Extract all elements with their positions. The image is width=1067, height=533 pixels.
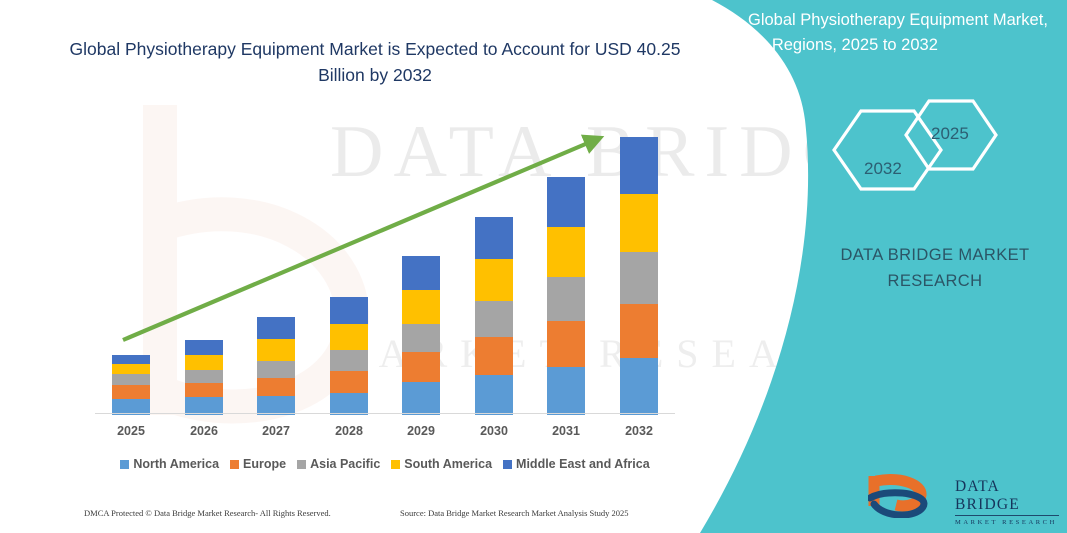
brand-line-1: DATA BRIDGE MARKET <box>790 242 1067 268</box>
bar-segment-2026-middle-east-and-africa <box>185 340 223 355</box>
bar-2025 <box>112 355 150 415</box>
legend-label: Asia Pacific <box>310 457 380 471</box>
bar-segment-2027-europe <box>257 378 295 396</box>
hexagon-2032-label: 2032 <box>864 159 902 179</box>
bar-segment-2029-south-america <box>402 290 440 324</box>
bar-segment-2030-europe <box>475 337 513 375</box>
legend-item-north-america[interactable]: North America <box>120 457 219 471</box>
bar-segment-2028-middle-east-and-africa <box>330 297 368 324</box>
bar-segment-2028-north-america <box>330 393 368 415</box>
legend-label: North America <box>133 457 219 471</box>
legend-swatch-icon <box>120 460 129 469</box>
bar-2026 <box>185 340 223 415</box>
bar-segment-2027-middle-east-and-africa <box>257 317 295 339</box>
chart-legend: North AmericaEuropeAsia PacificSouth Ame… <box>95 455 675 473</box>
bar-segment-2030-asia-pacific <box>475 301 513 337</box>
bar-segment-2029-asia-pacific <box>402 324 440 352</box>
chart-title: Global Physiotherapy Equipment Market is… <box>60 36 690 88</box>
bar-segment-2028-south-america <box>330 324 368 350</box>
right-panel-title: Global Physiotherapy Equipment Market, B… <box>748 8 1048 58</box>
x-axis-label-2025: 2025 <box>101 424 161 438</box>
x-axis-labels: 20252026202720282029203020312032 <box>95 424 675 444</box>
legend-swatch-icon <box>503 460 512 469</box>
bar-segment-2029-europe <box>402 352 440 382</box>
bar-segment-2028-europe <box>330 371 368 393</box>
x-axis-label-2028: 2028 <box>319 424 379 438</box>
logo-divider <box>955 515 1059 516</box>
legend-swatch-icon <box>230 460 239 469</box>
legend-label: Europe <box>243 457 286 471</box>
bar-segment-2029-middle-east-and-africa <box>402 256 440 290</box>
bar-segment-2027-south-america <box>257 339 295 361</box>
bar-segment-2027-asia-pacific <box>257 361 295 378</box>
bar-segment-2026-asia-pacific <box>185 370 223 383</box>
bar-segment-2025-asia-pacific <box>112 374 150 385</box>
legend-label: South America <box>404 457 492 471</box>
bar-segment-2030-middle-east-and-africa <box>475 217 513 259</box>
x-axis-label-2029: 2029 <box>391 424 451 438</box>
bar-2027 <box>257 317 295 415</box>
bar-segment-2029-north-america <box>402 382 440 415</box>
bar-segment-2032-middle-east-and-africa <box>620 137 658 194</box>
bar-segment-2025-middle-east-and-africa <box>112 355 150 364</box>
brand-name-block: DATA BRIDGE MARKET RESEARCH <box>790 242 1067 294</box>
bar-segment-2031-north-america <box>547 367 585 415</box>
bar-segment-2032-europe <box>620 304 658 358</box>
bar-2028 <box>330 297 368 415</box>
brand-line-2: RESEARCH <box>790 268 1067 294</box>
legend-label: Middle East and Africa <box>516 457 650 471</box>
bar-segment-2032-north-america <box>620 358 658 415</box>
bar-segment-2025-south-america <box>112 364 150 374</box>
x-axis-label-2027: 2027 <box>246 424 306 438</box>
x-axis-label-2030: 2030 <box>464 424 524 438</box>
footer-source: Source: Data Bridge Market Research Mark… <box>400 508 629 518</box>
bar-2029 <box>402 256 440 415</box>
bar-segment-2026-europe <box>185 383 223 397</box>
legend-item-south-america[interactable]: South America <box>391 457 492 471</box>
logo-tagline: MARKET RESEARCH <box>955 519 1065 526</box>
legend-item-asia-pacific[interactable]: Asia Pacific <box>297 457 380 471</box>
bar-segment-2030-north-america <box>475 375 513 415</box>
bar-segment-2032-asia-pacific <box>620 252 658 304</box>
data-bridge-logo-text: DATA BRIDGE MARKET RESEARCH <box>955 478 1065 526</box>
legend-swatch-icon <box>391 460 400 469</box>
bar-segment-2031-south-america <box>547 227 585 277</box>
infographic-canvas: DATA BRIDGE MARKET RESEARCH Global Physi… <box>0 0 1067 533</box>
bar-segment-2032-south-america <box>620 194 658 252</box>
bar-segment-2031-asia-pacific <box>547 277 585 321</box>
x-axis-line <box>95 413 675 414</box>
hexagon-year-pair: 2032 2025 <box>820 95 1010 205</box>
bar-segment-2031-europe <box>547 321 585 367</box>
footer: DMCA Protected © Data Bridge Market Rese… <box>0 508 700 526</box>
legend-item-europe[interactable]: Europe <box>230 457 286 471</box>
bar-segment-2028-asia-pacific <box>330 350 368 371</box>
bar-2032 <box>620 137 658 415</box>
legend-item-middle-east-and-africa[interactable]: Middle East and Africa <box>503 457 650 471</box>
logo-name: DATA BRIDGE <box>955 478 1065 514</box>
bar-segment-2031-middle-east-and-africa <box>547 177 585 227</box>
hexagon-2025-label: 2025 <box>931 124 969 144</box>
bar-2030 <box>475 217 513 415</box>
bar-chart-plot-area <box>95 120 675 415</box>
footer-copyright: DMCA Protected © Data Bridge Market Rese… <box>84 508 331 518</box>
x-axis-label-2026: 2026 <box>174 424 234 438</box>
x-axis-label-2031: 2031 <box>536 424 596 438</box>
bar-segment-2026-south-america <box>185 355 223 370</box>
bar-segment-2030-south-america <box>475 259 513 301</box>
bar-2031 <box>547 177 585 415</box>
legend-swatch-icon <box>297 460 306 469</box>
bar-segment-2025-europe <box>112 385 150 399</box>
